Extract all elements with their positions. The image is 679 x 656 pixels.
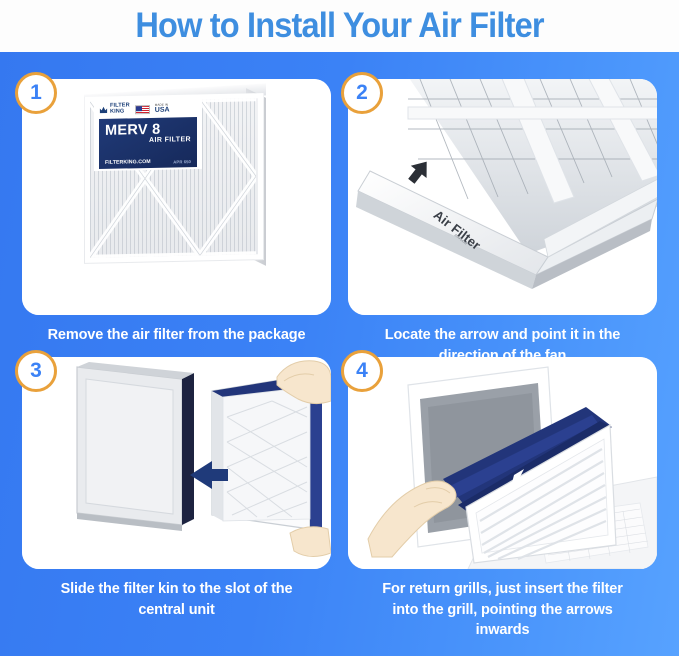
- label-footer-row: FILTERKING.COM APR 650: [105, 158, 191, 166]
- page-title: How to Install Your Air Filter: [135, 6, 543, 46]
- step-4-caption-line-1: For return grills, just insert the filte…: [348, 579, 657, 600]
- brand-name: FILTER KING: [110, 104, 130, 116]
- made-in-usa: MADE IN USA: [155, 104, 170, 114]
- step-3-badge: 3: [15, 350, 57, 392]
- filter-corner-illustration: [348, 79, 657, 315]
- filter-king-logo: FILTER KING: [99, 104, 130, 116]
- step-4-card: [348, 357, 657, 569]
- step-4-badge: 4: [341, 350, 383, 392]
- step-2: Air Filter AIRFLOW 2 Locate the arrow an…: [348, 79, 657, 360]
- title-band: How to Install Your Air Filter: [0, 0, 679, 52]
- air-filter-product-photo: FILTER KING MADE IN USA: [22, 79, 331, 315]
- crown-icon: [99, 105, 108, 115]
- step-2-card: Air Filter AIRFLOW: [348, 79, 657, 315]
- step-4-caption: For return grills, just insert the filte…: [348, 579, 657, 641]
- step-2-badge: 2: [341, 72, 383, 114]
- step-3: 3 Slide the filter kin to the slot of th…: [22, 357, 331, 647]
- step-4: 4 For return grills, just insert the fil…: [348, 357, 657, 647]
- step-3-caption-line-1: Slide the filter kin to the slot of the: [22, 579, 331, 600]
- steps-grid: FILTER KING MADE IN USA: [0, 52, 679, 656]
- step-2-caption-line-1: Locate the arrow and point it in the: [348, 325, 657, 346]
- label-navy-block: MERV 8 AIR FILTER FILTERKING.COM APR 650: [99, 117, 197, 169]
- step-3-card: [22, 357, 331, 569]
- step-1-card: FILTER KING MADE IN USA: [22, 79, 331, 315]
- usa-flag-icon: [135, 104, 150, 113]
- step-3-caption-line-2: central unit: [22, 600, 331, 621]
- filter-corner-photo: Air Filter AIRFLOW: [348, 79, 657, 315]
- label-header-row: FILTER KING MADE IN USA: [99, 101, 197, 117]
- brand-line-2: KING: [110, 108, 124, 114]
- country-text: USA: [155, 107, 170, 114]
- step-1-caption: Remove the air filter from the package: [22, 325, 331, 346]
- step-3-caption: Slide the filter kin to the slot of the …: [22, 579, 331, 620]
- step-2-number: 2: [356, 82, 368, 103]
- step-4-number: 4: [356, 360, 368, 381]
- website-text: FILTERKING.COM: [105, 159, 151, 166]
- step-4-caption-line-3: inwards: [348, 620, 657, 641]
- product-label: FILTER KING MADE IN USA: [94, 97, 202, 171]
- step-1: FILTER KING MADE IN USA: [22, 79, 331, 360]
- step-4-caption-line-2: into the grill, pointing the arrows: [348, 600, 657, 621]
- apr-rating: APR 650: [173, 159, 191, 164]
- slot-insert-illustration: [22, 357, 331, 569]
- return-grill-illustration: [348, 357, 657, 569]
- step-1-caption-line-1: Remove the air filter from the package: [22, 325, 331, 346]
- step-1-number: 1: [30, 82, 42, 103]
- infographic-page: How to Install Your Air Filter: [0, 0, 679, 656]
- step-1-badge: 1: [15, 72, 57, 114]
- step-3-number: 3: [30, 360, 42, 381]
